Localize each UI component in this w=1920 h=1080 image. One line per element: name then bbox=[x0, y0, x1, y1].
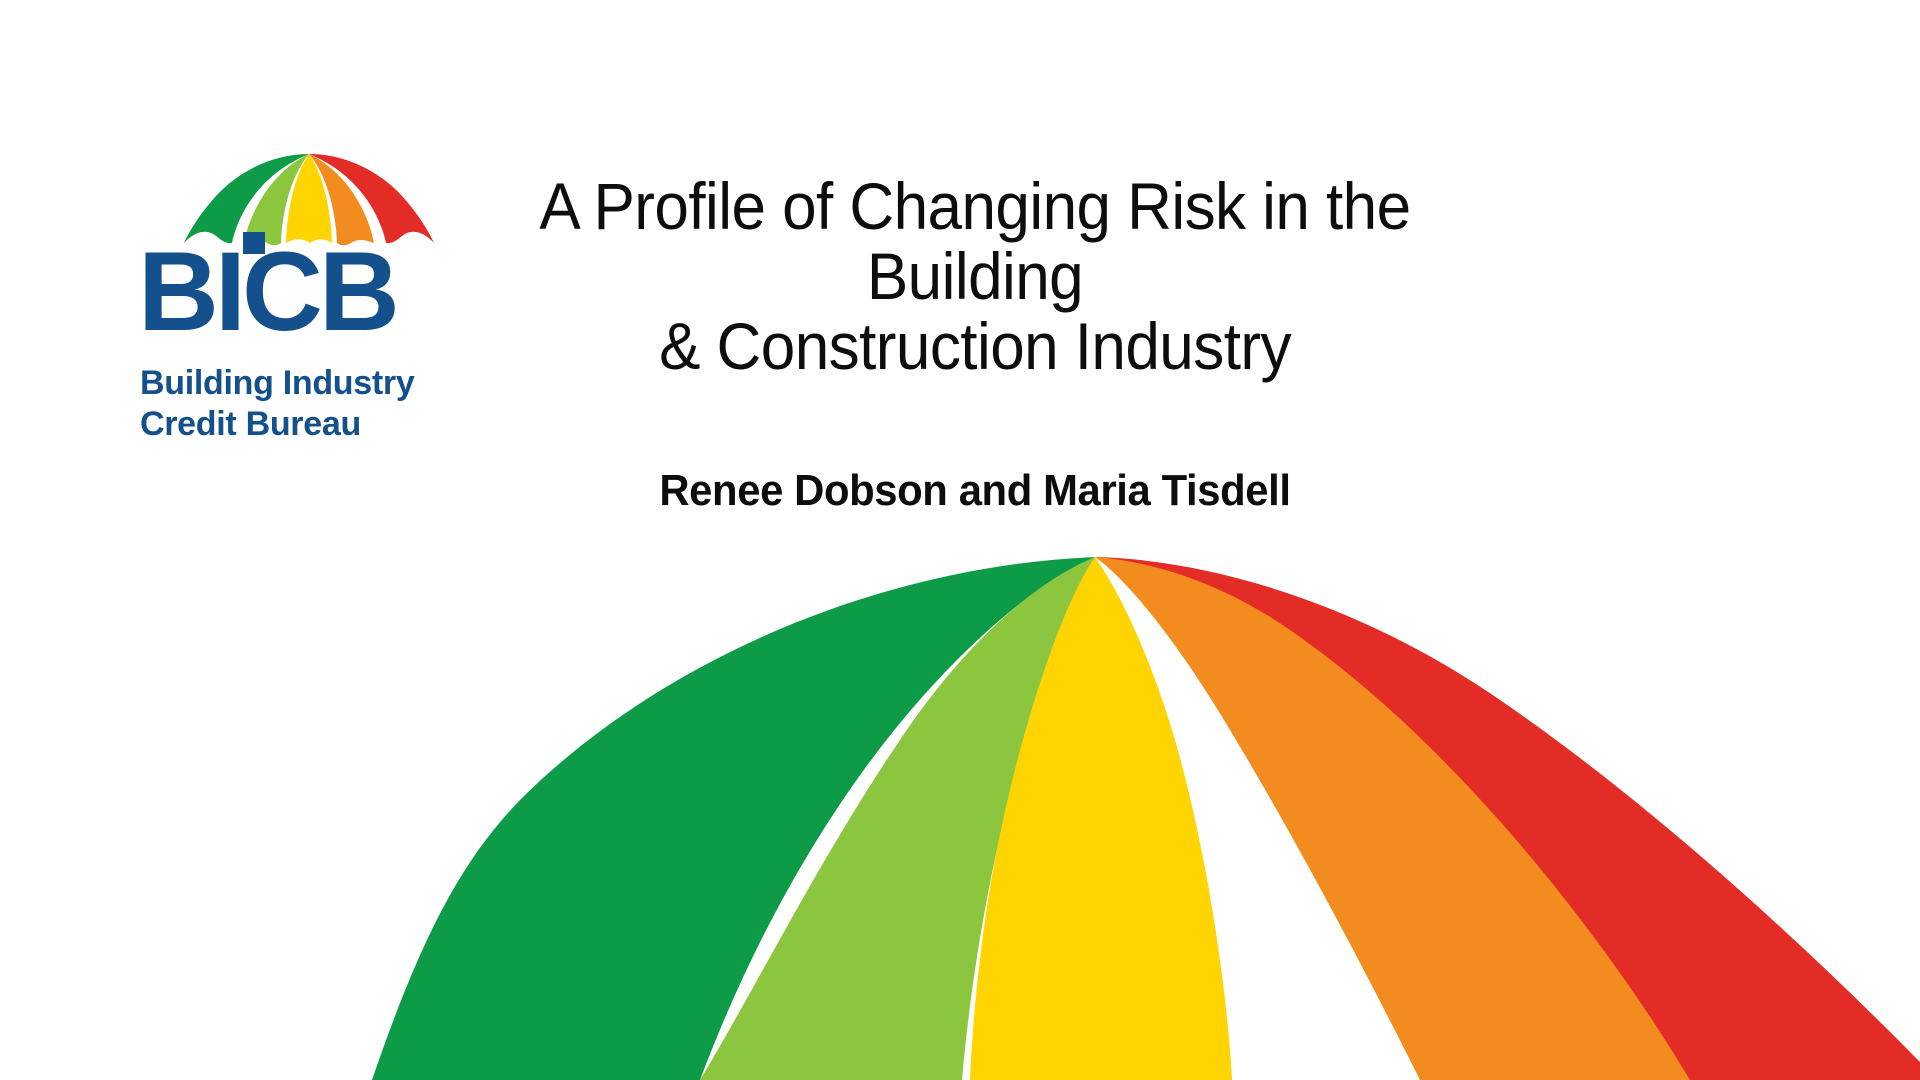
slide-title: A Profile of Changing Risk in the Buildi… bbox=[500, 172, 1449, 382]
logo-wordmark-bicb: BICB bbox=[138, 226, 438, 356]
umbrella-panel-yellow bbox=[970, 557, 1232, 1080]
bicb-logo: BICB Building Industry Credit Bureau bbox=[138, 148, 438, 448]
umbrella-panel-orange bbox=[1095, 557, 1690, 1080]
logo-wordmark-text: BICB bbox=[138, 229, 396, 354]
logo-i-dot bbox=[243, 232, 265, 254]
title-slide: BICB Building Industry Credit Bureau A P… bbox=[0, 0, 1920, 1080]
title-block: A Profile of Changing Risk in the Buildi… bbox=[470, 172, 1480, 516]
slide-authors: Renee Dobson and Maria Tisdell bbox=[495, 466, 1455, 516]
umbrella-panel-red bbox=[1095, 557, 1920, 1080]
umbrella-panel-dark-green bbox=[372, 557, 1095, 1080]
logo-tagline: Building Industry Credit Bureau bbox=[140, 363, 460, 446]
umbrella-panel-light-green bbox=[700, 557, 1095, 1080]
